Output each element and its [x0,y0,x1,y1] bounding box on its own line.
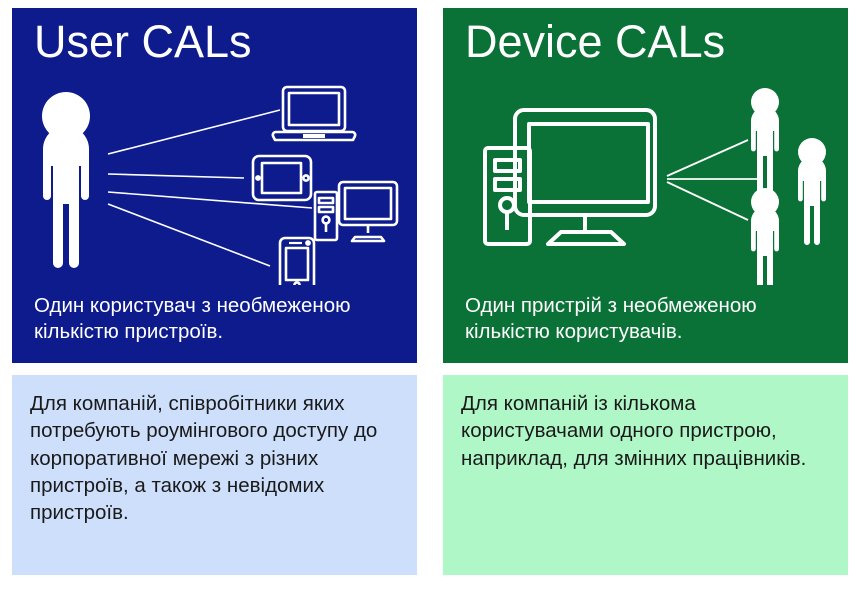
smartphone-icon [280,238,314,285]
person-icon [798,138,826,245]
user-cals-panel: User CALs [12,8,417,363]
tablet-icon [253,156,311,200]
person-icon [751,188,779,285]
user-cals-caption: Один користувач з необмеженою кількістю … [34,293,405,345]
desktop-computer-icon [485,110,655,244]
device-cals-note-text: Для компаній із кількома користувачами о… [461,390,838,472]
connector-lines [108,110,312,266]
desktop-computer-icon [315,182,397,241]
user-cals-illustration [12,80,417,285]
device-cals-title: Device CALs [465,18,725,65]
user-cals-note-text: Для компаній, співробітники яких потребу… [30,390,407,526]
person-icon [42,92,90,268]
device-cals-illustration [443,80,848,285]
device-cals-panel: Device CALs [443,8,848,363]
user-cals-title: User CALs [34,18,252,65]
laptop-icon [273,87,355,140]
device-cals-caption: Один пристрій з необмеженою кількістю ко… [465,293,836,345]
device-cals-note-panel: Для компаній із кількома користувачами о… [443,375,848,575]
cal-comparison-infographic: User CALs [0,0,860,589]
connector-lines [667,140,763,220]
user-cals-note-panel: Для компаній, співробітники яких потребу… [12,375,417,575]
